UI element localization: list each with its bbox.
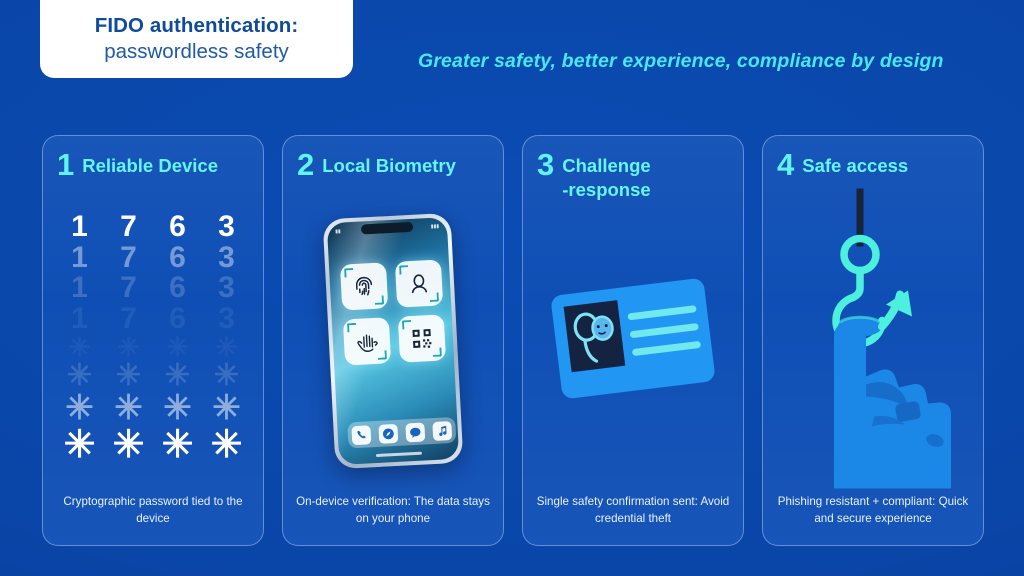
scan-bracket-icon: [402, 320, 411, 329]
phone-notch: [361, 221, 413, 234]
digit-column: 7 7 7 7 ✳ ✳ ✳ ✳: [112, 212, 146, 465]
card-title-line: Challenge: [562, 154, 650, 178]
statusbar-right: ▮▮▮: [431, 223, 440, 229]
mask-ghost: ✳: [212, 391, 241, 426]
password-digits-illustration: 1 1 1 1 ✳ ✳ ✳ ✳ 7 7 7 7 ✳: [43, 198, 263, 483]
qr-code-tile[interactable]: [398, 314, 446, 362]
card-caption: On-device verification: The data stays o…: [291, 494, 495, 527]
card-header: 3 Challenge -response: [523, 150, 743, 203]
page-subtitle: passwordless safety: [104, 39, 289, 64]
digit-ghost: 7: [120, 304, 137, 335]
mask-char: ✳: [162, 426, 194, 465]
mask-ghost: ✳: [69, 334, 91, 361]
hook-and-hand: [778, 188, 968, 493]
card-title: Challenge -response: [562, 150, 650, 203]
message-icon[interactable]: [405, 421, 425, 441]
mask-ghost: ✳: [163, 391, 192, 426]
tagline: Greater safety, better experience, compl…: [418, 50, 998, 73]
hand-icon: [834, 320, 951, 488]
digit-ghost: 1: [71, 273, 88, 304]
hook-hand-graphic: [778, 188, 968, 488]
card-number: 2: [297, 150, 314, 179]
card-header: 1 Reliable Device: [43, 150, 263, 179]
digit-value: 7: [120, 212, 137, 243]
digit-columns: 1 1 1 1 ✳ ✳ ✳ ✳ 7 7 7 7 ✳: [63, 212, 244, 465]
title-card: FIDO authentication: passwordless safety: [40, 0, 353, 78]
digit-column: 3 3 3 3 ✳ ✳ ✳ ✳: [210, 212, 244, 465]
card-header: 4 Safe access: [763, 150, 983, 179]
scan-bracket-icon: [375, 295, 384, 304]
card-caption: Phishing resistant + compliant: Quick an…: [771, 494, 975, 527]
id-card-graphic: [538, 258, 728, 418]
phone-home-indicator: [376, 451, 422, 456]
card-number: 4: [777, 150, 794, 179]
compass-icon[interactable]: [378, 423, 398, 443]
mask-ghost: ✳: [118, 334, 140, 361]
mask-ghost: ✳: [116, 361, 141, 392]
face-id-icon: [407, 270, 430, 295]
smartphone-illustration: ▮▮ ▮▮▮: [283, 198, 503, 483]
scan-bracket-icon: [399, 265, 408, 274]
infographic-slide: FIDO authentication: passwordless safety…: [0, 0, 1024, 576]
digit-column: 1 1 1 1 ✳ ✳ ✳ ✳: [63, 212, 97, 465]
card-number: 3: [537, 150, 554, 179]
fingerprint-tile[interactable]: [340, 262, 388, 310]
face-id-tile[interactable]: [395, 259, 443, 307]
phishing-hook-illustration: [763, 198, 983, 483]
id-card-illustration: [523, 198, 743, 483]
mask-ghost: ✳: [216, 334, 238, 361]
mask-ghost: ✳: [214, 361, 239, 392]
palm-scan-icon: [355, 329, 379, 353]
music-icon[interactable]: [432, 420, 452, 440]
card-local-biometry: 2 Local Biometry ▮▮ ▮▮▮: [282, 135, 504, 546]
fingerprint-icon: [352, 273, 375, 298]
digit-ghost: 1: [71, 304, 88, 335]
digit-ghost: 6: [169, 304, 186, 335]
card-caption: Cryptographic password tied to the devic…: [51, 494, 255, 527]
digit-ghost: 6: [169, 243, 186, 274]
card-caption: Single safety confirmation sent: Avoid c…: [531, 494, 735, 527]
phone-body: ▮▮ ▮▮▮: [323, 212, 464, 468]
mask-char: ✳: [113, 426, 145, 465]
mask-ghost: ✳: [114, 391, 143, 426]
digit-value: 3: [218, 212, 235, 243]
biometric-tiles: [340, 259, 451, 365]
digit-ghost: 7: [120, 243, 137, 274]
scan-bracket-icon: [347, 322, 356, 331]
digit-ghost: 3: [218, 304, 235, 335]
smartphone: ▮▮ ▮▮▮: [323, 212, 464, 468]
palm-scan-tile[interactable]: [343, 317, 391, 365]
card-number: 1: [57, 150, 74, 179]
digit-column: 6 6 6 6 ✳ ✳ ✳ ✳: [161, 212, 195, 465]
mask-ghost: ✳: [67, 361, 92, 392]
digit-value: 1: [71, 212, 88, 243]
id-card: [538, 258, 728, 423]
phone-icon[interactable]: [351, 424, 371, 444]
qr-code-icon: [410, 326, 433, 349]
card-safe-access: 4 Safe access: [762, 135, 984, 546]
mask-char: ✳: [64, 426, 96, 465]
card-header: 2 Local Biometry: [283, 150, 503, 179]
scan-bracket-icon: [432, 347, 441, 356]
scan-bracket-icon: [430, 292, 439, 301]
digit-ghost: 3: [218, 243, 235, 274]
card-reliable-device: 1 Reliable Device 1 1 1 1 ✳ ✳ ✳ ✳: [42, 135, 264, 546]
card-title: Safe access: [802, 150, 908, 178]
mask-char: ✳: [211, 426, 243, 465]
digit-ghost: 7: [120, 273, 137, 304]
statusbar-left: ▮▮: [335, 228, 341, 234]
scan-bracket-icon: [377, 350, 386, 359]
card-challenge-response: 3 Challenge -response: [522, 135, 744, 546]
phone-dock: [347, 416, 456, 448]
card-title: Reliable Device: [82, 150, 218, 178]
escape-arrow-icon: [882, 290, 912, 326]
cards-row: 1 Reliable Device 1 1 1 1 ✳ ✳ ✳ ✳: [42, 135, 984, 546]
phone-screen: ▮▮ ▮▮▮: [327, 217, 460, 465]
card-title: Local Biometry: [322, 150, 456, 178]
digit-value: 6: [169, 212, 186, 243]
mask-ghost: ✳: [165, 361, 190, 392]
scan-bracket-icon: [344, 267, 353, 276]
digit-ghost: 3: [218, 273, 235, 304]
digit-ghost: 6: [169, 273, 186, 304]
page-title: FIDO authentication:: [95, 14, 299, 38]
mask-ghost: ✳: [65, 391, 94, 426]
digit-ghost: 1: [71, 243, 88, 274]
mask-ghost: ✳: [167, 334, 189, 361]
